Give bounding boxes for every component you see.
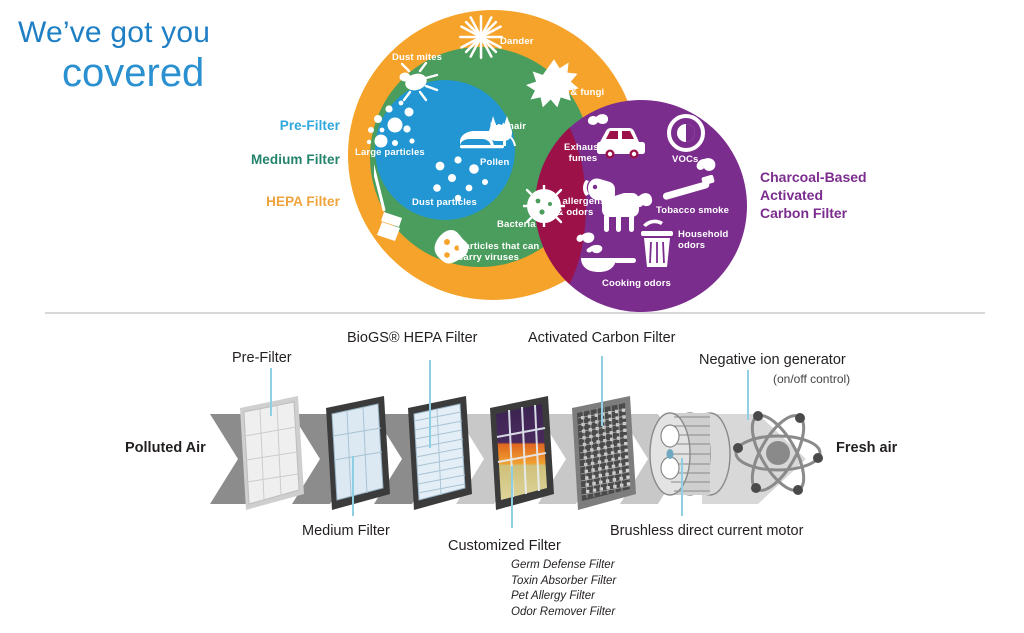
- leader-hepa-filter: [429, 360, 431, 448]
- customized-filter-panel-icon: [482, 394, 562, 512]
- venn-label-pollen: Pollen: [480, 157, 509, 168]
- leader-motor: [681, 458, 683, 516]
- venn-label-large-particles: Large particles: [355, 147, 425, 158]
- venn-legend-pre-filter: Pre-Filter: [120, 118, 340, 133]
- venn-label-exhaust-fumes: Exhaust fumes: [562, 142, 604, 164]
- page-title: We’ve got you covered: [18, 18, 210, 93]
- venn-diagram: Dust mites Large particles Dander Mold &…: [330, 2, 790, 312]
- headline-line-2: covered: [62, 53, 210, 93]
- customized-filter-type-list: Germ Defense Filter Toxin Absorber Filte…: [511, 558, 616, 620]
- carbon-filter-panel-icon: [564, 394, 644, 512]
- venn-label-cooking-odors: Cooking odors: [602, 278, 671, 289]
- stage-label-customized-filter: Customized Filter: [448, 538, 561, 554]
- vocs-icon: [667, 114, 705, 152]
- blower-wheel-icon: [648, 406, 738, 502]
- leader-carbon-filter: [601, 356, 603, 426]
- headline-line-1: We’ve got you: [18, 18, 210, 48]
- leader-pre-filter: [270, 368, 272, 416]
- mold-icon: [525, 57, 583, 113]
- stage-sublabel-ion-generator: (on/off control): [773, 372, 850, 386]
- venn-label-pet-allergens: Pet allergens & odors: [542, 196, 608, 218]
- leader-medium-filter: [352, 456, 354, 516]
- list-item: Pet Allergy Filter: [511, 589, 616, 605]
- venn-label-pet-hair: Pet hair: [490, 121, 526, 132]
- medium-filter-panel-icon: [318, 394, 398, 512]
- infographic-page: We’ve got you covered Pre-Filter Medium …: [0, 0, 1024, 633]
- stage-label-medium-filter: Medium Filter: [302, 523, 390, 539]
- dander-icon: [458, 14, 504, 60]
- venn-legend-medium-filter: Medium Filter: [120, 152, 340, 167]
- stage-label-ion-generator: Negative ion generator: [699, 352, 846, 368]
- pre-filter-panel-icon: [232, 394, 312, 512]
- venn-label-dust-mites: Dust mites: [392, 52, 442, 63]
- list-item: Toxin Absorber Filter: [511, 574, 616, 590]
- list-item: Odor Remover Filter: [511, 605, 616, 621]
- fresh-air-label: Fresh air: [836, 440, 897, 456]
- dust-mite-icon: [393, 62, 439, 102]
- section-divider: [45, 312, 985, 314]
- venn-label-tobacco-smoke: Tobacco smoke: [656, 205, 729, 216]
- venn-legend-hepa-filter: HEPA Filter: [120, 194, 340, 209]
- airflow-diagram: Polluted Air Fresh air Pre-Filter Medium…: [0, 318, 1024, 633]
- venn-label-vocs: VOCs: [672, 154, 698, 165]
- trash-can-icon: [633, 217, 681, 269]
- stage-label-carbon-filter: Activated Carbon Filter: [528, 330, 675, 346]
- stage-label-motor: Brushless direct current motor: [610, 523, 803, 539]
- venn-label-dander: Dander: [500, 36, 534, 47]
- polluted-air-label: Polluted Air: [125, 440, 206, 456]
- venn-label-mold-fungi: Mold & fungi: [545, 87, 604, 98]
- venn-label-household-odors: Household odors: [678, 229, 730, 251]
- hepa-filter-panel-icon: [400, 394, 480, 512]
- pan-icon: [570, 230, 638, 276]
- list-item: Germ Defense Filter: [511, 558, 616, 574]
- venn-label-dust-particles: Dust particles: [412, 197, 477, 208]
- leader-customized-filter: [511, 466, 513, 528]
- stage-label-hepa-filter: BioGS® HEPA Filter: [347, 330, 477, 346]
- venn-label-bacteria: Bacteria: [497, 219, 536, 230]
- leader-ion-generator: [747, 370, 749, 420]
- stage-label-pre-filter: Pre-Filter: [232, 350, 292, 366]
- atom-icon: [730, 404, 826, 502]
- venn-label-virus-particles: Particles that can carry viruses: [458, 241, 554, 263]
